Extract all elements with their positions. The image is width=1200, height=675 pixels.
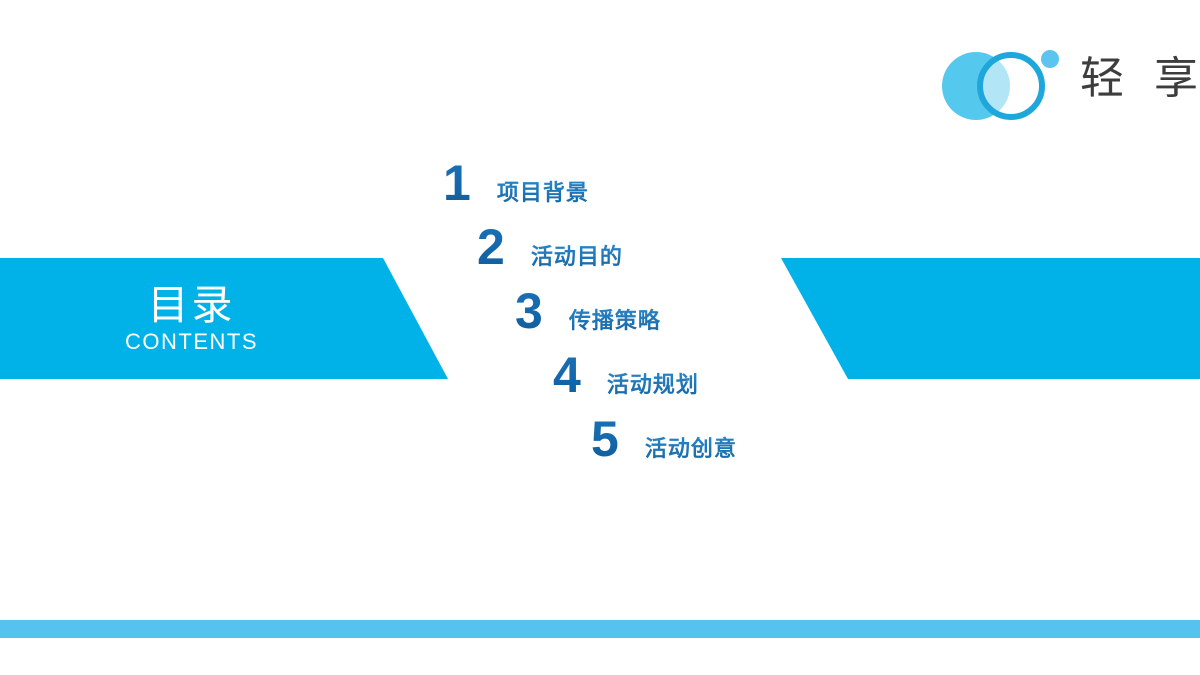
toc-number: 3 — [515, 286, 543, 336]
toc-entry-5[interactable]: 5 活动创意 — [591, 414, 737, 465]
toc-label: 项目背景 — [497, 179, 589, 209]
brand-logo: 轻 享 — [938, 42, 1188, 122]
toc-label: 活动规划 — [607, 371, 699, 401]
two-overlapping-circles-logo-icon — [938, 42, 1068, 122]
toc-entry-4[interactable]: 4 活动规划 — [553, 350, 699, 401]
toc-number: 2 — [477, 222, 505, 272]
toc-entry-3[interactable]: 3 传播策略 — [515, 286, 661, 337]
toc-label: 活动目的 — [531, 243, 623, 273]
toc-number: 1 — [443, 158, 471, 208]
slide-canvas: 轻 享 目录 CONTENTS 1 项目背景 2 活动目的 3 传播策略 4 活… — [0, 0, 1200, 675]
bottom-accent-bar — [0, 620, 1200, 638]
table-of-contents: 1 项目背景 2 活动目的 3 传播策略 4 活动规划 5 活动创意 — [0, 140, 1200, 480]
brand-name: 轻 享 — [1080, 50, 1200, 108]
toc-number: 5 — [591, 414, 619, 464]
toc-entry-1[interactable]: 1 项目背景 — [443, 158, 589, 209]
toc-number: 4 — [553, 350, 581, 400]
toc-entry-2[interactable]: 2 活动目的 — [477, 222, 623, 273]
toc-label: 传播策略 — [569, 307, 661, 337]
toc-label: 活动创意 — [645, 435, 737, 465]
